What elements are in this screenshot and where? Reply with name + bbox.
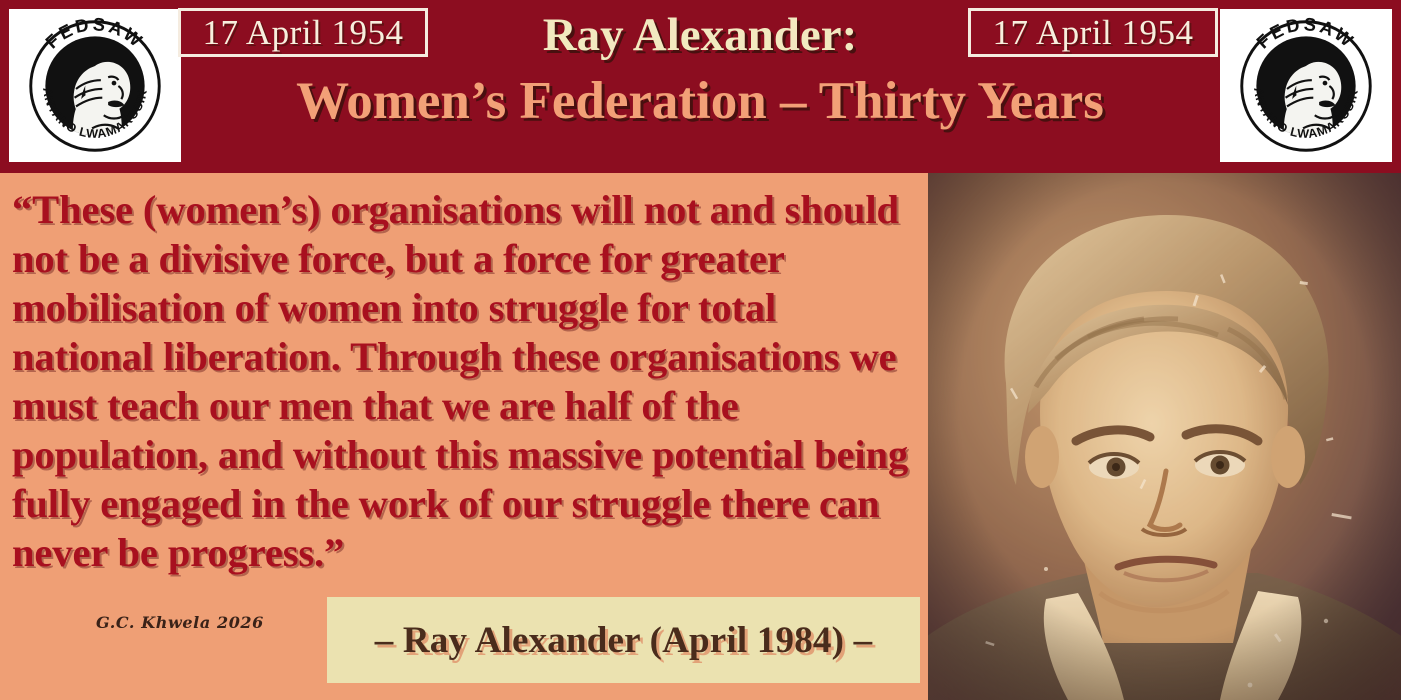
portrait-photo	[928, 173, 1401, 700]
fedsaw-emblem-icon: FEDSAW UMANYANO LWAMAKOSIKAZI	[22, 13, 168, 159]
title-line-2: Women’s Federation – Thirty Years	[296, 74, 1104, 128]
header-band: FEDSAW UMANYANO LWAMAKOSIKAZI 17 April 1…	[0, 0, 1401, 173]
attribution-text: – Ray Alexander (April 1984) –	[375, 619, 873, 662]
poster-root: FEDSAW UMANYANO LWAMAKOSIKAZI 17 April 1…	[0, 0, 1401, 700]
date-badge-left-text: 17 April 1954	[203, 15, 404, 50]
portrait-photo-image	[928, 173, 1401, 700]
date-badge-left: 17 April 1954	[178, 8, 428, 57]
fedsaw-logo-left: FEDSAW UMANYANO LWAMAKOSIKAZI	[9, 9, 181, 162]
fedsaw-emblem-icon: FEDSAW UMANYANO LWAMAKOSIKAZI	[1233, 13, 1379, 159]
poster-title: Ray Alexander: Women’s Federation – Thir…	[430, 8, 970, 166]
artist-signature: G.C. Khwela 2026	[96, 613, 264, 632]
attribution-box: – Ray Alexander (April 1984) –	[327, 597, 920, 683]
date-badge-right-text: 17 April 1954	[993, 15, 1194, 50]
title-line-1: Ray Alexander:	[543, 12, 858, 60]
quote-text: “These (women’s) organisations will not …	[12, 185, 924, 577]
fedsaw-logo-right: FEDSAW UMANYANO LWAMAKOSIKAZI	[1220, 9, 1392, 162]
date-badge-right: 17 April 1954	[968, 8, 1218, 57]
